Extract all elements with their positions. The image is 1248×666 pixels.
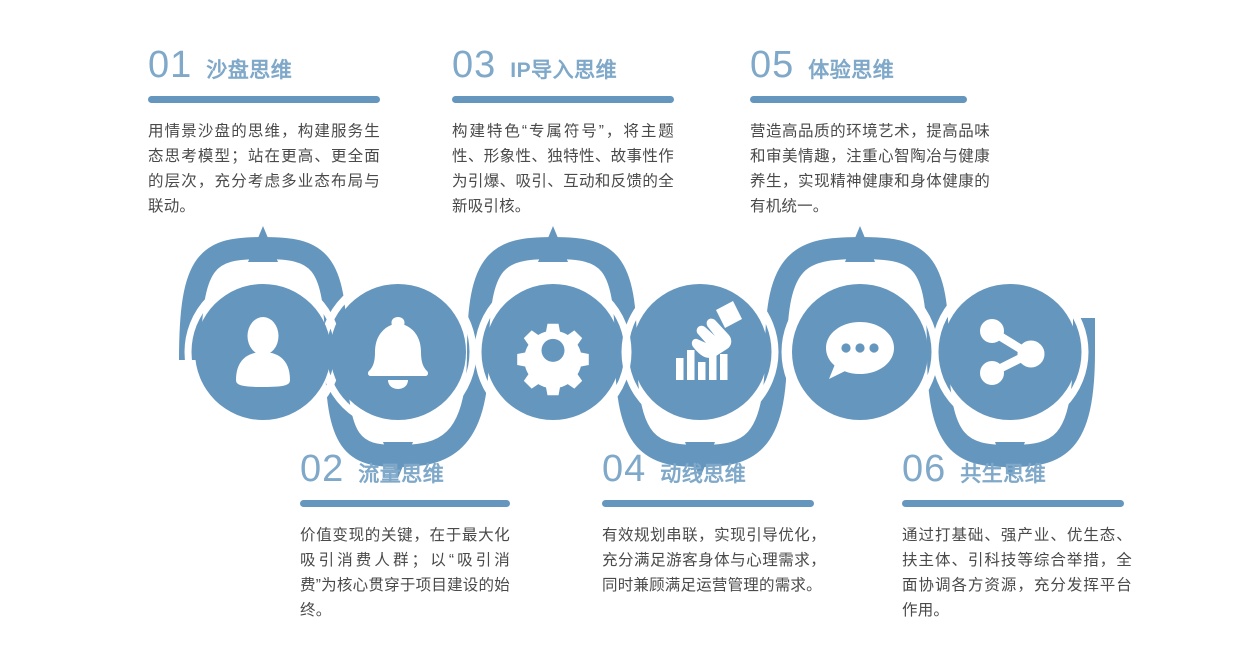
title-underline-bar xyxy=(750,96,967,103)
title-underline-bar xyxy=(300,500,510,507)
card-header: 06 共生思维 xyxy=(902,450,1132,488)
icon-disc-5 xyxy=(792,284,928,420)
item-number: 02 xyxy=(300,450,344,488)
chat-bubble-icon xyxy=(826,322,894,379)
item-card-04: 04 动线思维 有效规划串联，实现引导优化，充分满足游客身体与心理需求，同时兼顾… xyxy=(602,450,826,598)
card-header: 01 沙盘思维 xyxy=(148,46,380,84)
title-underline-bar xyxy=(452,96,674,103)
item-title: IP导入思维 xyxy=(510,60,617,81)
card-header: 05 体验思维 xyxy=(750,46,990,84)
item-number: 01 xyxy=(148,46,192,84)
icon-disc-2 xyxy=(330,284,466,420)
item-title: 流量思维 xyxy=(358,464,444,485)
card-header: 02 流量思维 xyxy=(300,450,510,488)
item-card-06: 06 共生思维 通过打基础、强产业、优生态、扶主体、引科技等综合举措，全面协调各… xyxy=(902,450,1132,623)
icon-discs xyxy=(195,284,1078,420)
title-underline-bar xyxy=(148,96,380,103)
share-network-icon xyxy=(981,320,1045,385)
item-card-05: 05 体验思维 营造高品质的环境艺术，提高品味和审美情趣，注重心智陶冶与健康养生… xyxy=(750,46,990,219)
icon-disc-4 xyxy=(632,284,768,420)
item-description: 用情景沙盘的思维，构建服务生态思考模型；站在更高、更全面的层次，充分考虑多业态布… xyxy=(148,119,380,219)
title-underline-bar xyxy=(602,500,814,507)
icon-disc-3 xyxy=(485,284,621,420)
user-icon xyxy=(236,317,290,387)
item-description: 营造高品质的环境艺术，提高品味和审美情趣，注重心智陶冶与健康养生，实现精神健康和… xyxy=(750,119,990,219)
gear-icon xyxy=(517,324,589,396)
icon-disc-1 xyxy=(195,284,331,420)
ring-gaps xyxy=(188,277,1085,427)
item-title: 共生思维 xyxy=(960,464,1046,485)
pointer-triangles xyxy=(248,226,1025,478)
title-underline-bar xyxy=(902,500,1124,507)
item-description: 价值变现的关键，在于最大化吸引消费人群；以“吸引消费”为核心贯穿于项目建设的始终… xyxy=(300,523,510,623)
card-header: 04 动线思维 xyxy=(602,450,826,488)
item-card-03: 03 IP导入思维 构建特色“专属符号”，将主题性、形象性、独特性、故事性作为引… xyxy=(452,46,674,219)
item-description: 通过打基础、强产业、优生态、扶主体、引科技等综合举措，全面协调各方资源，充分发挥… xyxy=(902,523,1132,623)
item-number: 04 xyxy=(602,450,646,488)
item-description: 构建特色“专属符号”，将主题性、形象性、独特性、故事性作为引爆、吸引、互动和反馈… xyxy=(452,119,674,219)
item-title: 体验思维 xyxy=(808,60,894,81)
ribbon-band xyxy=(190,248,1084,456)
card-header: 03 IP导入思维 xyxy=(452,46,674,84)
hand-bar-chart-icon xyxy=(676,301,742,380)
item-number: 05 xyxy=(750,46,794,84)
item-description: 有效规划串联，实现引导优化，充分满足游客身体与心理需求，同时兼顾满足运营管理的需… xyxy=(602,523,826,598)
pointer-up-3 xyxy=(538,226,568,262)
item-card-02: 02 流量思维 价值变现的关键，在于最大化吸引消费人群；以“吸引消费”为核心贯穿… xyxy=(300,450,510,623)
pointer-up-5 xyxy=(845,226,875,262)
item-card-01: 01 沙盘思维 用情景沙盘的思维，构建服务生态思考模型；站在更高、更全面的层次，… xyxy=(148,46,380,219)
item-number: 03 xyxy=(452,46,496,84)
item-number: 06 xyxy=(902,450,946,488)
icon-disc-6 xyxy=(942,284,1078,420)
infographic-canvas: 01 沙盘思维 用情景沙盘的思维，构建服务生态思考模型；站在更高、更全面的层次，… xyxy=(0,0,1248,666)
item-title: 动线思维 xyxy=(660,464,746,485)
bell-icon xyxy=(368,317,428,389)
pointer-up-1 xyxy=(248,226,278,262)
item-title: 沙盘思维 xyxy=(206,60,292,81)
